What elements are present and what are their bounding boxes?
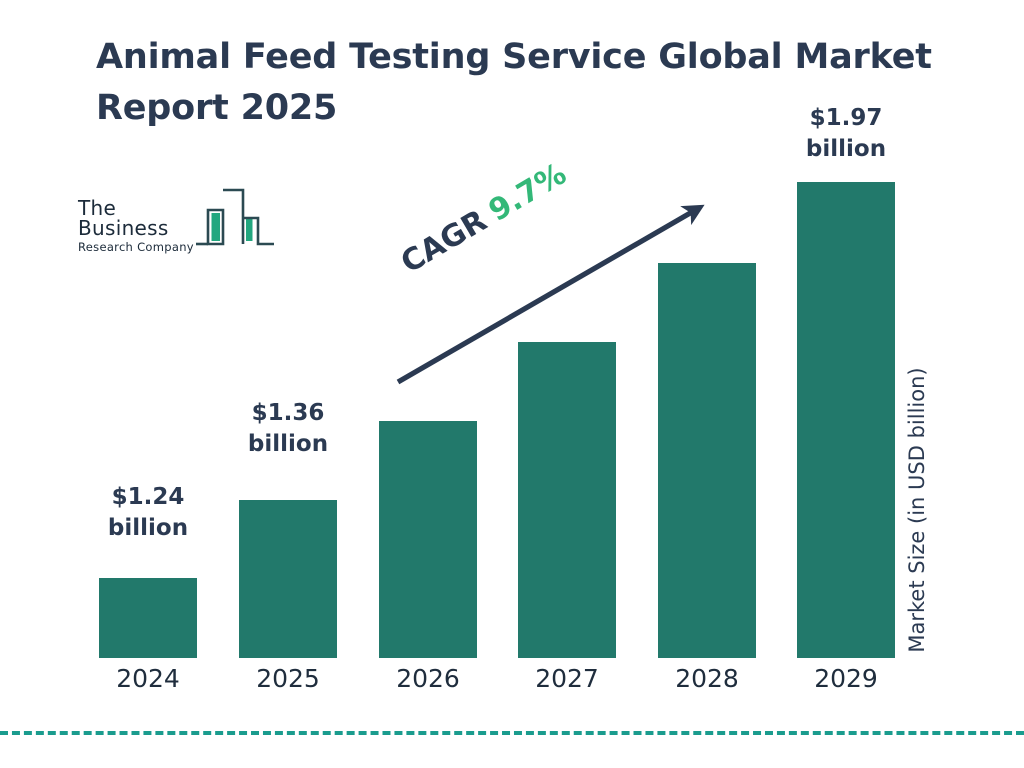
bar-value-label-2029: $1.97 billion: [776, 103, 916, 165]
bar-value-unit-2025: billion: [218, 429, 358, 460]
x-tick-2028: 2028: [657, 664, 757, 693]
cagr-annotation: CAGR9.7%: [395, 156, 572, 280]
bar-2027: [518, 342, 616, 658]
bar-value-unit-2029: billion: [776, 134, 916, 165]
x-tick-2024: 2024: [98, 664, 198, 693]
y-axis-title: Market Size (in USD billion): [905, 330, 929, 690]
bottom-divider: [0, 731, 1024, 735]
bar-2026: [379, 421, 477, 658]
bar-2024: [99, 578, 197, 658]
x-tick-2025: 2025: [238, 664, 338, 693]
cagr-label: CAGR: [395, 203, 493, 280]
bar-2025: [239, 500, 337, 658]
bar-2029: [797, 182, 895, 658]
bar-value-label-2024: $1.24 billion: [78, 482, 218, 544]
chart-page: Animal Feed Testing Service Global Marke…: [0, 0, 1024, 768]
bar-value-label-2025: $1.36 billion: [218, 398, 358, 460]
bar-value-amount-2024: $1.24: [78, 482, 218, 513]
x-tick-2026: 2026: [378, 664, 478, 693]
x-tick-2029: 2029: [796, 664, 896, 693]
bar-chart-plot-area: $1.24 billion $1.36 billion $1.97 billio…: [0, 0, 1024, 768]
bar-value-amount-2025: $1.36: [218, 398, 358, 429]
bar-value-unit-2024: billion: [78, 513, 218, 544]
x-tick-2027: 2027: [517, 664, 617, 693]
cagr-value: 9.7%: [483, 156, 572, 228]
bar-value-amount-2029: $1.97: [776, 103, 916, 134]
bar-2028: [658, 263, 756, 658]
